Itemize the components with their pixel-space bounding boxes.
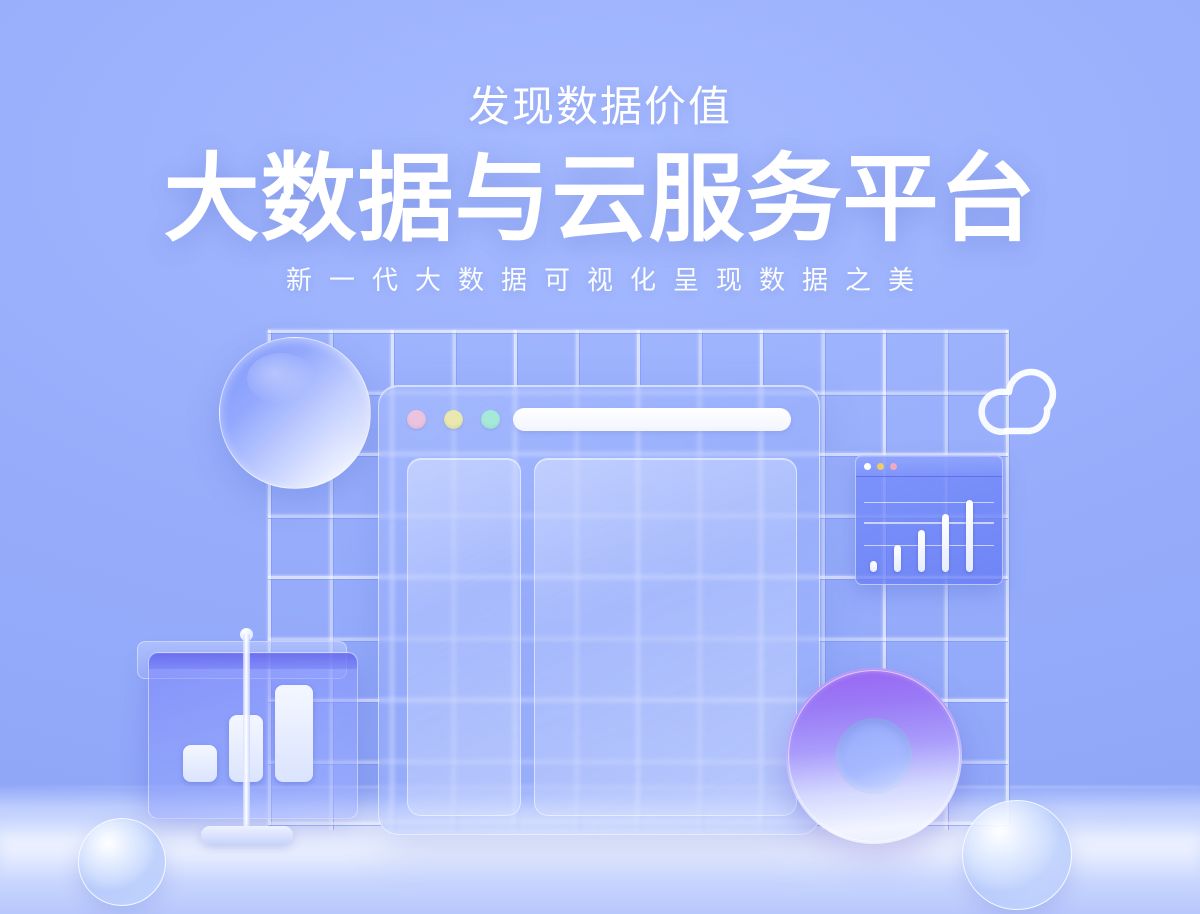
grid-line-horizontal [268,330,1008,333]
cloud-icon [975,365,1067,437]
chart-bar [918,530,925,572]
chart-gridline [864,522,994,524]
mini-bar-chart-plot [856,476,1002,584]
chart-stand-pole [243,633,250,837]
glass-disc [219,337,371,489]
mini-window-title-bar [856,456,1002,477]
address-bar-input[interactable] [513,408,791,431]
chart-gridline [864,502,994,504]
chart-bar [942,514,949,572]
chart-bar [275,685,313,782]
minimize-dot[interactable] [877,463,884,470]
chart-bar [183,745,217,782]
glass-sphere-left [78,818,166,906]
glass-sphere-right [962,800,1072,910]
chart-stand-base [201,826,293,844]
maximize-dot[interactable] [890,463,897,470]
content-pane[interactable] [534,458,797,816]
browser-title-bar [379,386,819,448]
eyebrow-text: 发现数据价值 [0,86,1200,128]
chart-bar [870,561,877,572]
chart-bar [966,500,973,572]
close-dot[interactable] [864,463,871,470]
disc-highlight [247,353,316,404]
page-title: 大数据与云服务平台 [0,150,1200,251]
close-dot[interactable] [407,410,426,429]
gradient-donut-ring [786,668,962,844]
tagline-text: 新一代大数据可视化呈现数据之美 [0,267,1200,293]
glass-panel-bars [149,653,357,818]
donut-hole [836,718,912,794]
hero-text-block: 发现数据价值 大数据与云服务平台 新一代大数据可视化呈现数据之美 [0,0,1200,293]
maximize-dot[interactable] [481,410,500,429]
glass-bar-chart-panel[interactable] [148,652,358,819]
chart-bar [894,545,901,572]
banner-stage: 发现数据价值 大数据与云服务平台 新一代大数据可视化呈现数据之美 [0,0,1200,914]
main-browser-mockup[interactable] [378,385,820,835]
minimize-dot[interactable] [444,410,463,429]
chart-gridline [864,545,994,547]
mini-bar-chart-window[interactable] [855,455,1003,585]
sidebar-pane[interactable] [407,458,521,816]
